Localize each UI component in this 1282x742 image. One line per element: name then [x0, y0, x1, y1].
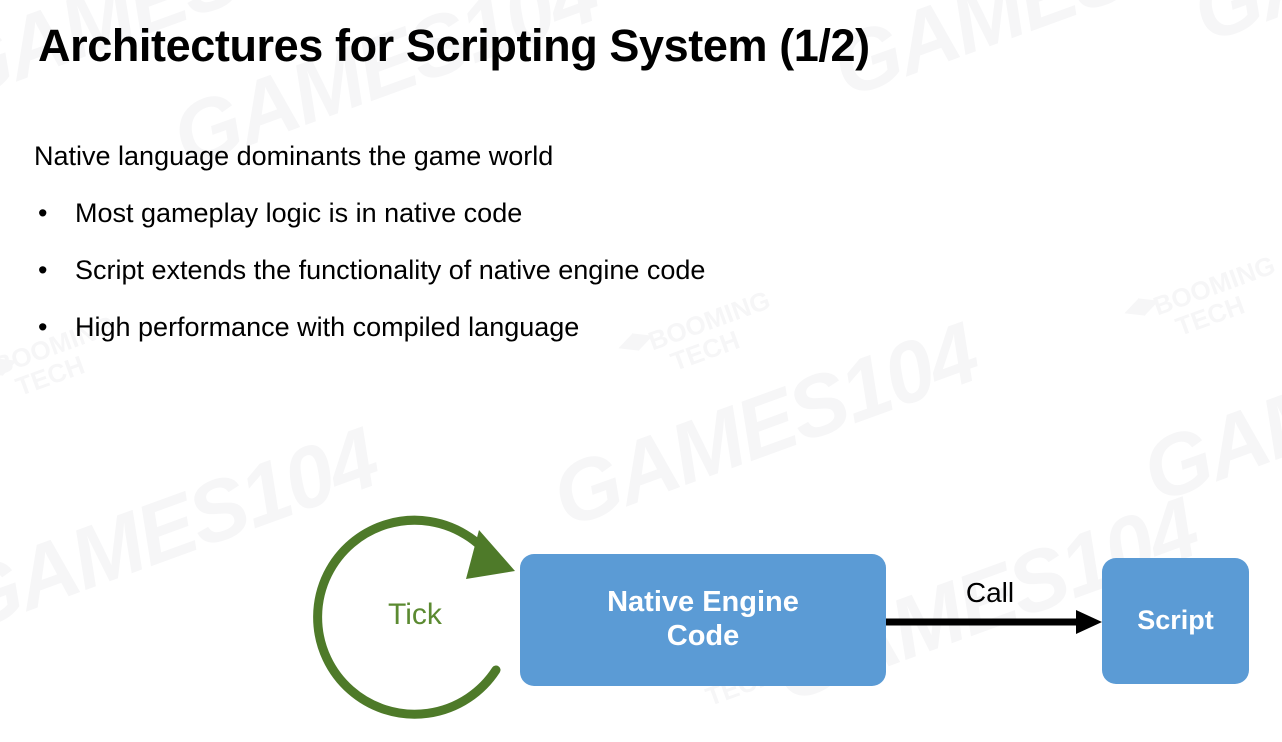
tick-label: Tick [330, 598, 500, 632]
slide-canvas: GAMES104 GAMES104 GAMES104 GAMES104 GAME… [0, 0, 1282, 742]
native-engine-code-label: Native Engine Code [607, 586, 799, 653]
native-engine-code-box[interactable]: Native Engine Code [520, 554, 886, 686]
script-box[interactable]: Script [1102, 558, 1249, 684]
call-arrow-icon [886, 610, 1102, 634]
call-label: Call [930, 577, 1050, 609]
native-box-line1: Native Engine [607, 586, 799, 618]
native-box-line2: Code [667, 620, 740, 652]
scripting-architecture-diagram: Tick Native Engine Code Call Script [0, 0, 1282, 742]
script-box-label: Script [1137, 605, 1214, 636]
